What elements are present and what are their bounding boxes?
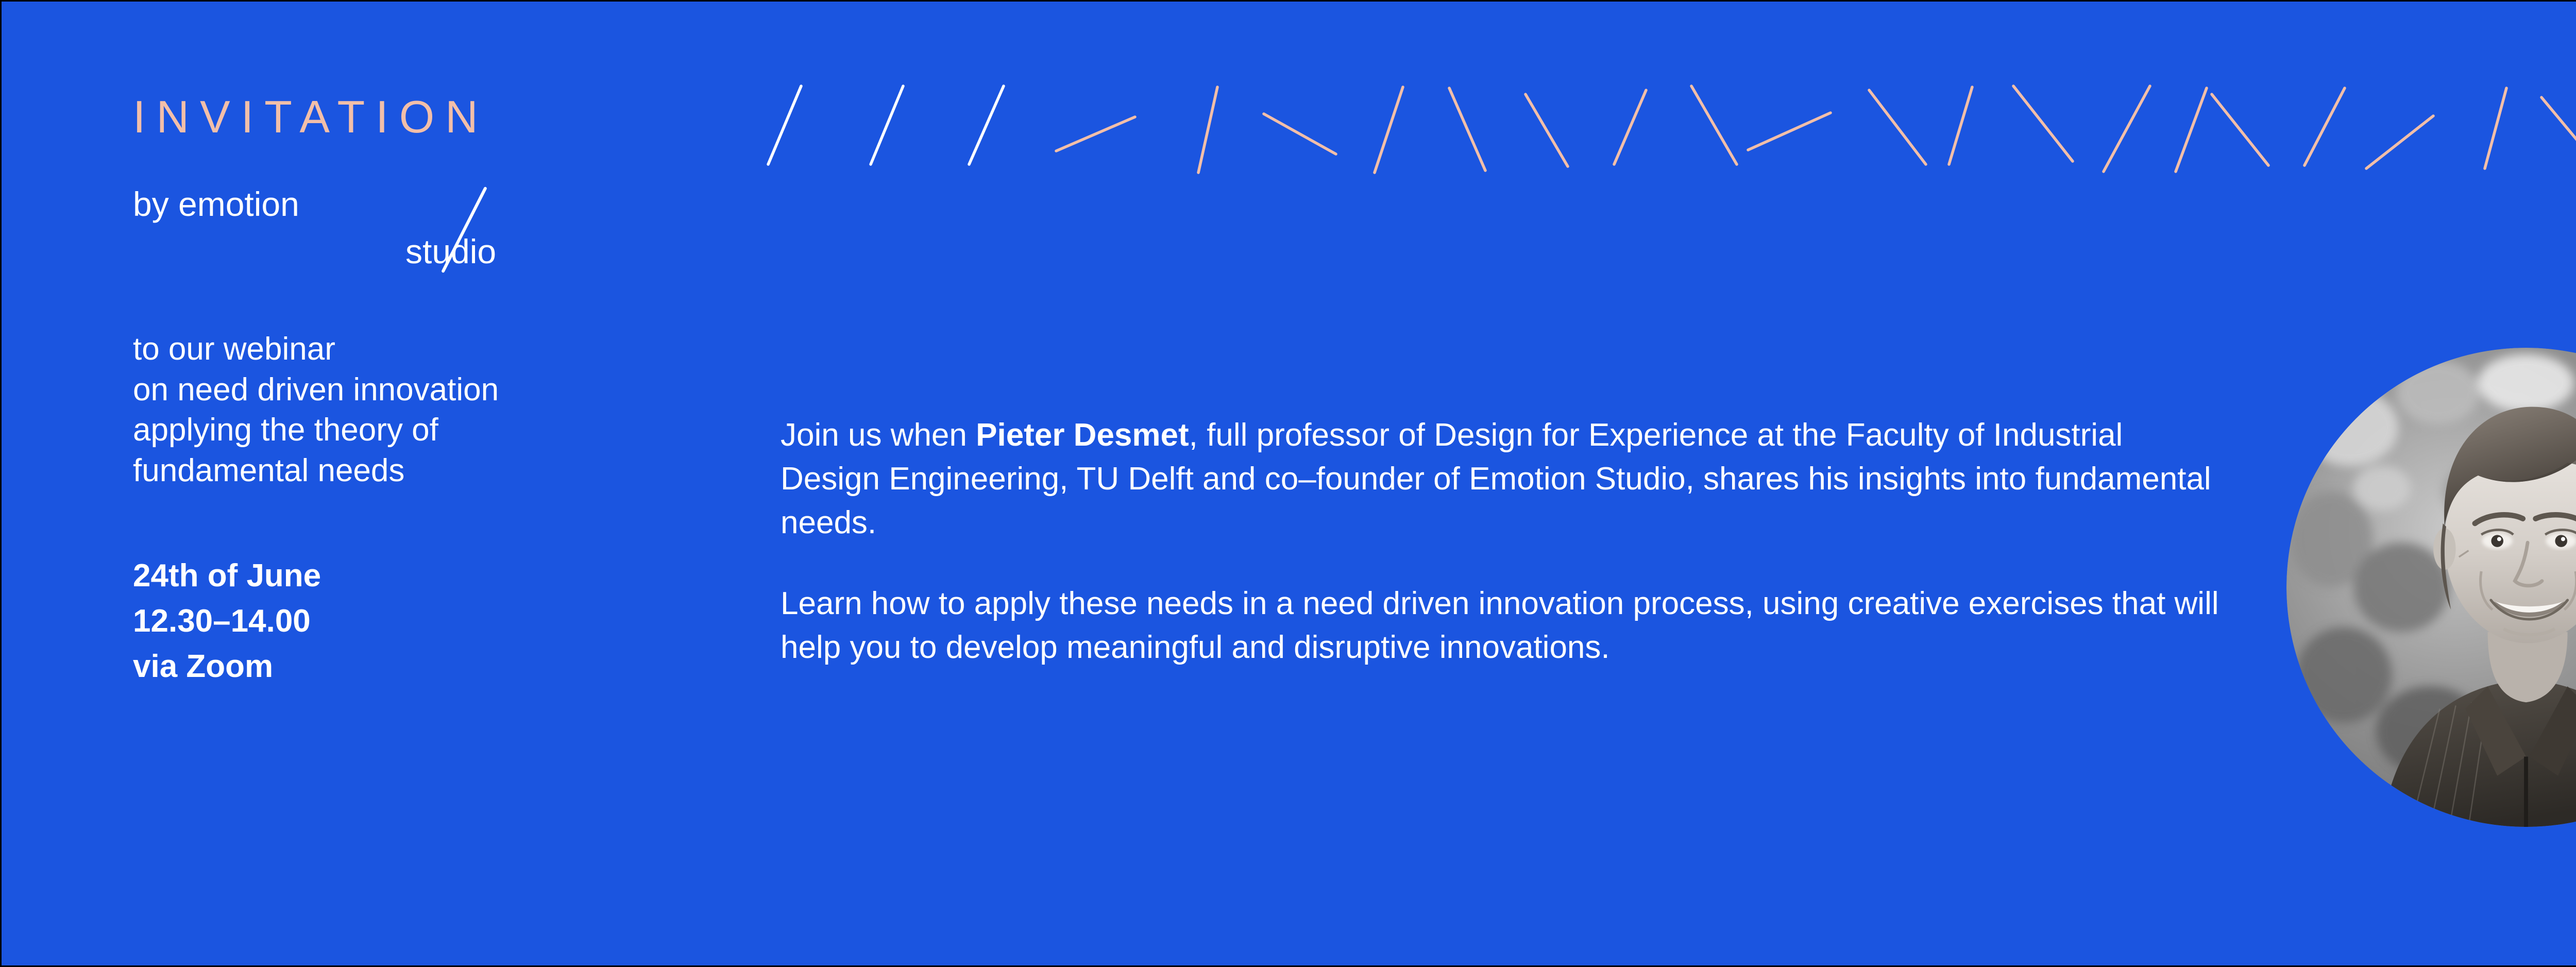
decorative-stroke <box>1056 117 1135 151</box>
page-title: INVITATION <box>133 94 710 140</box>
decorative-stroke <box>1375 87 1403 173</box>
logo-by-emotion-text: by emotion <box>133 187 299 221</box>
left-column: INVITATION by emotion studio to our webi… <box>133 94 710 689</box>
decorative-stroke <box>1691 86 1737 164</box>
webinar-line: applying the theory of <box>133 410 710 451</box>
event-date: 24th of June <box>133 553 710 599</box>
decorative-stroke <box>2541 97 2576 165</box>
decorative-stroke <box>2304 88 2345 165</box>
speaker-portrait-image <box>2286 348 2576 827</box>
decorative-strokes <box>764 63 2576 187</box>
decorative-stroke <box>2104 86 2150 172</box>
decorative-stroke <box>1526 94 1568 166</box>
event-platform: via Zoom <box>133 644 710 689</box>
decorative-stroke <box>1949 87 1972 164</box>
decorative-stroke <box>2366 116 2433 168</box>
decorative-stroke <box>1748 113 1831 150</box>
webinar-subject: to our webinar on need driven innovation… <box>133 329 710 491</box>
speaker-portrait <box>2286 348 2576 827</box>
decorative-strokes-svg <box>764 63 2576 187</box>
decorative-stroke <box>1449 88 1485 171</box>
decorative-stroke <box>2176 88 2207 172</box>
logo-studio-text: studio <box>405 234 496 268</box>
speaker-name: Pieter Desmet <box>976 417 1189 453</box>
paragraph1-before: Join us when <box>781 417 976 453</box>
decorative-stroke <box>871 86 903 164</box>
decorative-stroke <box>1614 90 1646 164</box>
decorative-stroke <box>768 86 801 164</box>
webinar-line: fundamental needs <box>133 451 710 491</box>
paragraph-learn: Learn how to apply these needs in a need… <box>781 582 2223 670</box>
decorative-stroke <box>2212 94 2268 165</box>
decorative-stroke <box>1198 87 1217 173</box>
decorative-stroke <box>1869 90 1926 164</box>
decorative-stroke <box>1264 114 1336 154</box>
emotion-studio-logo: by emotion studio <box>133 187 555 285</box>
invitation-banner: INVITATION by emotion studio to our webi… <box>0 0 2576 967</box>
webinar-line: to our webinar <box>133 329 710 370</box>
decorative-stroke <box>969 86 1004 164</box>
decorative-stroke <box>2485 88 2506 168</box>
event-time: 12.30–14.00 <box>133 599 710 644</box>
webinar-line: on need driven innovation <box>133 370 710 411</box>
body-copy: Join us when Pieter Desmet, full profess… <box>781 414 2223 670</box>
paragraph-speaker-intro: Join us when Pieter Desmet, full profess… <box>781 414 2223 545</box>
event-details: 24th of June 12.30–14.00 via Zoom <box>133 553 710 689</box>
decorative-stroke <box>2013 86 2073 161</box>
